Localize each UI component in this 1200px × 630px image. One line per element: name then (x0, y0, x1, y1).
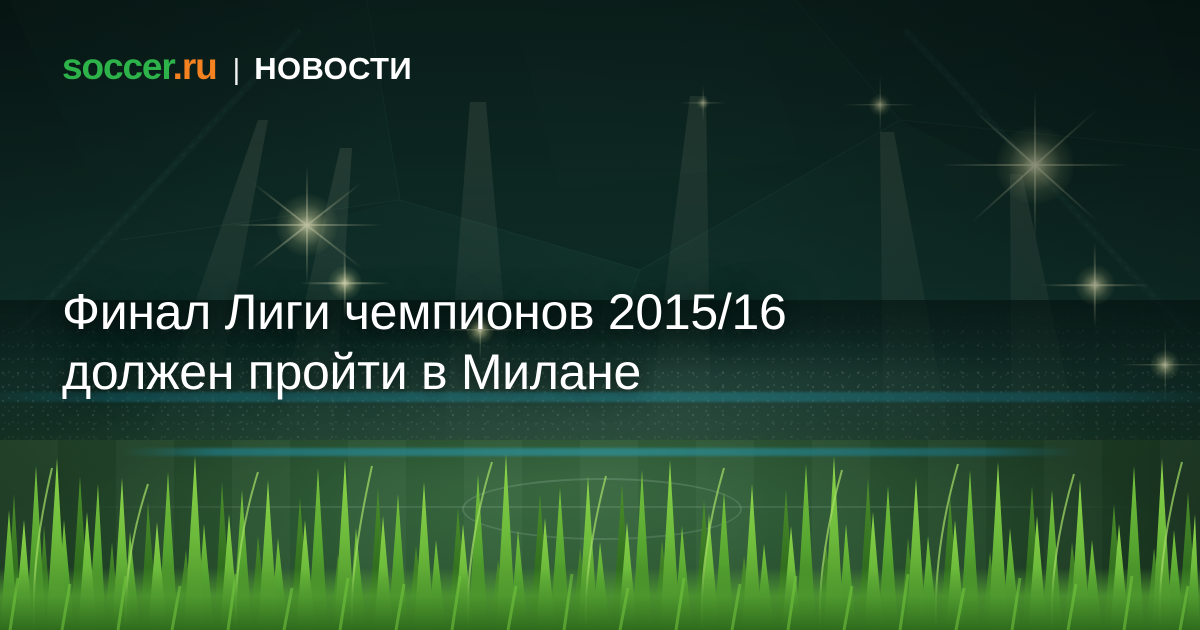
logo-main-text: soccer (62, 46, 173, 87)
soccer-ru-logo[interactable]: soccer.ru (62, 48, 217, 85)
news-share-card: soccer.ru | НОВОСТИ Финал Лиги чемпионов… (0, 0, 1200, 630)
brand-bar[interactable]: soccer.ru | НОВОСТИ (62, 48, 412, 85)
logo-tld-text: .ru (173, 46, 217, 87)
card-content: soccer.ru | НОВОСТИ Финал Лиги чемпионов… (0, 0, 1200, 630)
brand-separator: | (233, 56, 241, 85)
page-title: Финал Лиги чемпионов 2015/16 должен прой… (62, 282, 1022, 403)
section-label-news: НОВОСТИ (254, 53, 412, 84)
